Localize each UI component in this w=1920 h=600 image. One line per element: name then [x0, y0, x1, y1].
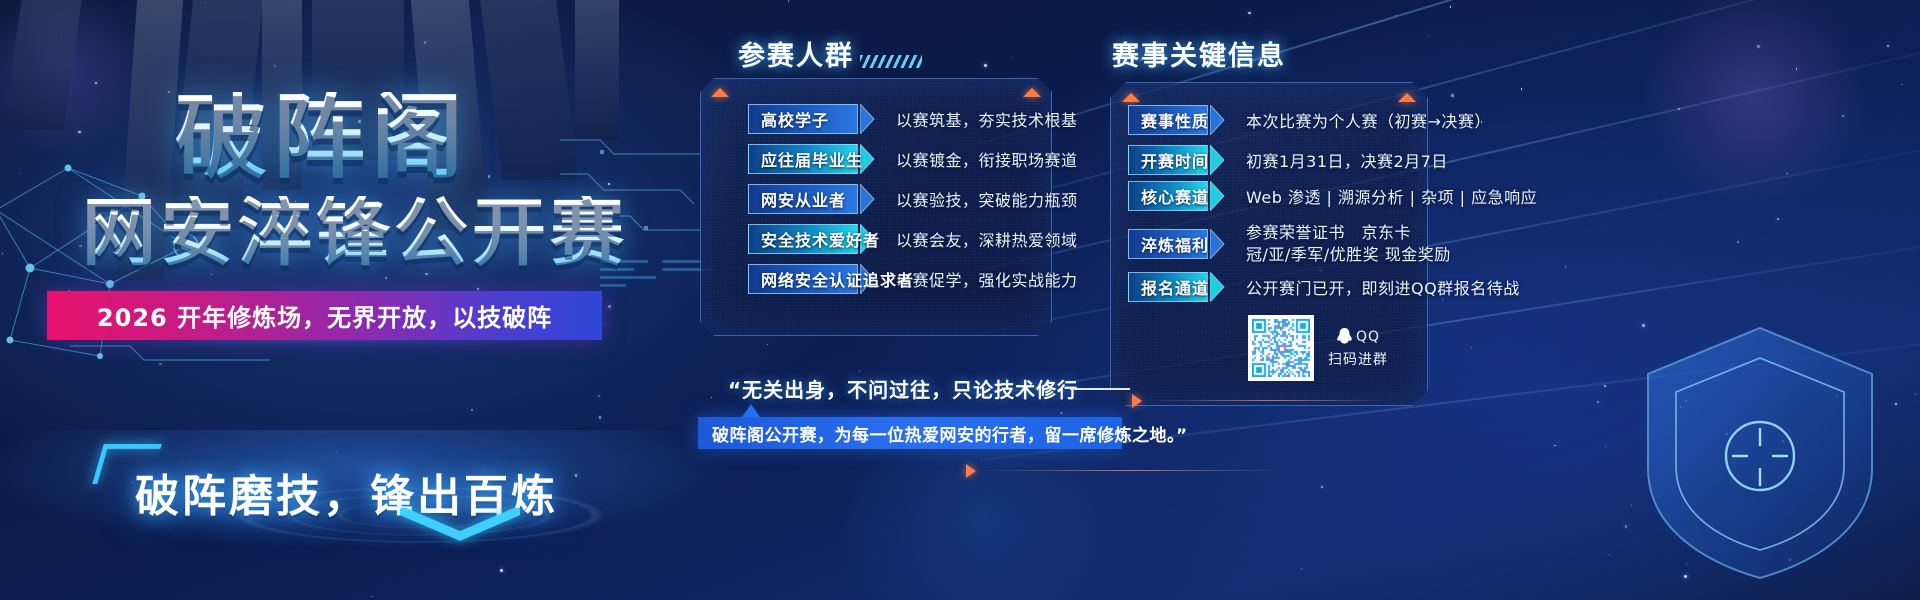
- keyinfo-value-line: 公开赛门已开，即刻进QQ群报名待战: [1246, 275, 1520, 299]
- keyinfo-tag: 开赛时间: [1128, 145, 1208, 175]
- participant-desc: 以赛镀金，衔接职场赛道: [896, 147, 1078, 171]
- keyinfo-tag: 赛事性质: [1128, 105, 1208, 135]
- hairline-decoration: [1145, 400, 1395, 401]
- quote-line: “无关出身，不问过往，只论技术修行: [728, 374, 1078, 403]
- qq-penguin-icon: [1336, 327, 1353, 346]
- keyinfo-tag: 淬炼福利: [1128, 229, 1208, 259]
- qr-caption: 扫码进群: [1328, 349, 1388, 369]
- keyinfo-row: 报名通道公开赛门已开，即刻进QQ群报名待战: [1128, 272, 1520, 302]
- qr-join-group[interactable]: QQ 扫码进群: [1248, 315, 1388, 381]
- keyinfo-value: 公开赛门已开，即刻进QQ群报名待战: [1246, 275, 1520, 299]
- keyinfo-tag: 核心赛道: [1128, 181, 1208, 211]
- hero-ribbon-text: 2026 开年修炼场，无界开放，以技破阵: [97, 298, 552, 333]
- participant-tag: 安全技术爱好者: [748, 224, 858, 254]
- corner-marker-icon: [1122, 93, 1140, 102]
- quote-bar-tail: [742, 404, 760, 417]
- keyinfo-value: 参赛荣誉证书 京东卡冠/亚/季军/优胜奖 现金奖励: [1246, 222, 1451, 265]
- keyinfo-value: 本次比赛为个人赛（初赛→决赛）: [1246, 108, 1491, 132]
- participant-tag: 网络安全认证追求者: [748, 264, 858, 294]
- hero-title-main: 破阵阁: [175, 92, 469, 184]
- quote-bar-text: 破阵阁公开赛，为每一位热爱网安的行者，留一席修炼之地。”: [712, 421, 1188, 446]
- keyinfo-value-line: Web 渗透 | 溯源分析 | 杂项 | 应急响应: [1246, 184, 1537, 208]
- participant-tag: 网安从业者: [748, 184, 858, 214]
- participant-row: 安全技术爱好者以赛会友，深耕热爱领域: [748, 224, 1078, 254]
- corner-marker-icon: [1023, 88, 1041, 97]
- chevron-down-icon: [400, 508, 520, 542]
- keyinfo-row: 开赛时间初赛1月31日，决赛2月7日: [1128, 145, 1448, 175]
- quote-rule: [1070, 388, 1130, 390]
- keyinfo-value-line: 本次比赛为个人赛（初赛→决赛）: [1246, 108, 1491, 132]
- keyinfo-value-line: 冠/亚/季军/优胜奖 现金奖励: [1246, 244, 1451, 266]
- hatch-decoration: [860, 55, 922, 68]
- keyinfo-row: 赛事性质本次比赛为个人赛（初赛→决赛）: [1128, 105, 1491, 135]
- participant-row: 网安从业者以赛验技，突破能力瓶颈: [748, 184, 1078, 214]
- participant-desc: 以赛验技，突破能力瓶颈: [896, 187, 1078, 211]
- arrow-right-icon: [860, 104, 882, 134]
- keyinfo-heading-text: 赛事关键信息: [1112, 34, 1286, 73]
- keyinfo-row: 核心赛道Web 渗透 | 溯源分析 | 杂项 | 应急响应: [1128, 181, 1537, 211]
- hairline-arrow-icon: [1132, 394, 1142, 408]
- qq-row: QQ: [1336, 327, 1380, 346]
- quote-bar: 破阵阁公开赛，为每一位热爱网安的行者，留一席修炼之地。”: [698, 417, 1122, 449]
- arrow-right-icon: [1210, 181, 1232, 211]
- keyinfo-value-line: 参赛荣誉证书 京东卡: [1246, 222, 1451, 244]
- participant-desc: 以赛促学，强化实战能力: [896, 267, 1078, 291]
- hero-title-sub: 网安淬锋公开赛: [82, 196, 628, 270]
- corner-marker-icon: [711, 88, 729, 97]
- arrow-right-icon: [1210, 229, 1232, 259]
- keyinfo-value: Web 渗透 | 溯源分析 | 杂项 | 应急响应: [1246, 184, 1537, 208]
- arrow-right-icon: [860, 184, 882, 214]
- qq-group-info: QQ 扫码进群: [1328, 327, 1388, 369]
- participant-tag: 应往届毕业生: [748, 144, 858, 174]
- keyinfo-tag: 报名通道: [1128, 272, 1208, 302]
- participants-heading-text: 参赛人群: [738, 34, 854, 73]
- arrow-right-icon: [1210, 145, 1232, 175]
- arrow-right-icon: [860, 144, 882, 174]
- hero-block: 破阵阁 网安淬锋公开赛 2026 开年修炼场，无界开放，以技破阵 破阵磨技，锋出…: [0, 0, 680, 600]
- participant-desc: 以赛筑基，夯实技术根基: [896, 107, 1078, 131]
- participant-row: 应往届毕业生以赛镀金，衔接职场赛道: [748, 144, 1078, 174]
- corner-marker-icon: [1398, 93, 1416, 102]
- keyinfo-row: 淬炼福利参赛荣誉证书 京东卡冠/亚/季军/优胜奖 现金奖励: [1128, 222, 1451, 265]
- participant-tag: 高校学子: [748, 104, 858, 134]
- participant-row: 高校学子以赛筑基，夯实技术根基: [748, 104, 1078, 134]
- shield-icon: [1610, 300, 1910, 600]
- keyinfo-value: 初赛1月31日，决赛2月7日: [1246, 148, 1448, 172]
- hairline-arrow-icon: [966, 464, 976, 478]
- arrow-right-icon: [1210, 272, 1232, 302]
- participant-row: 网络安全认证追求者以赛促学，强化实战能力: [748, 264, 1078, 294]
- qq-label: QQ: [1356, 329, 1380, 345]
- qr-code[interactable]: [1248, 315, 1314, 381]
- arrow-right-icon: [1210, 105, 1232, 135]
- hairline-decoration: [980, 470, 1280, 471]
- participant-desc: 以赛会友，深耕热爱领域: [896, 227, 1078, 251]
- keyinfo-heading: 赛事关键信息: [1112, 34, 1286, 73]
- keyinfo-value-line: 初赛1月31日，决赛2月7日: [1246, 148, 1448, 172]
- participants-heading: 参赛人群: [738, 34, 922, 73]
- hero-ribbon: 2026 开年修炼场，无界开放，以技破阵: [47, 291, 602, 340]
